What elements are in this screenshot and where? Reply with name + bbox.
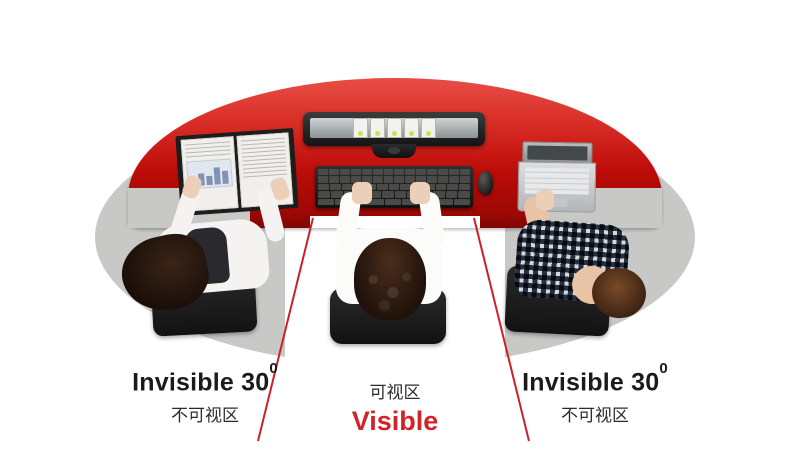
monitor-screen: [310, 118, 478, 138]
label-center-english: Visible: [320, 406, 470, 437]
label-left-english: Invisible 300: [60, 368, 350, 397]
desk-alcove-center: [310, 216, 480, 228]
mouse: [478, 171, 493, 195]
hand: [410, 182, 430, 204]
label-visible-center: 可视区 Visible: [320, 378, 470, 437]
label-left-chinese: 不可视区: [60, 401, 350, 426]
label-center-chinese: 可视区: [320, 378, 470, 403]
illustration-stage: Invisible 300 不可视区 可视区 Visible Invisible…: [0, 0, 790, 476]
hair: [354, 238, 426, 320]
monitor-stand: [372, 144, 416, 158]
label-invisible-right: Invisible 300 不可视区: [450, 368, 740, 426]
hand: [352, 182, 372, 204]
laptop-keyboard: [525, 167, 589, 194]
label-right-english: Invisible 300: [450, 368, 740, 397]
label-right-chinese: 不可视区: [450, 401, 740, 426]
keyboard: [315, 166, 473, 208]
hand: [536, 190, 554, 210]
label-invisible-left: Invisible 300 不可视区: [60, 368, 350, 426]
monitor: [303, 112, 485, 146]
